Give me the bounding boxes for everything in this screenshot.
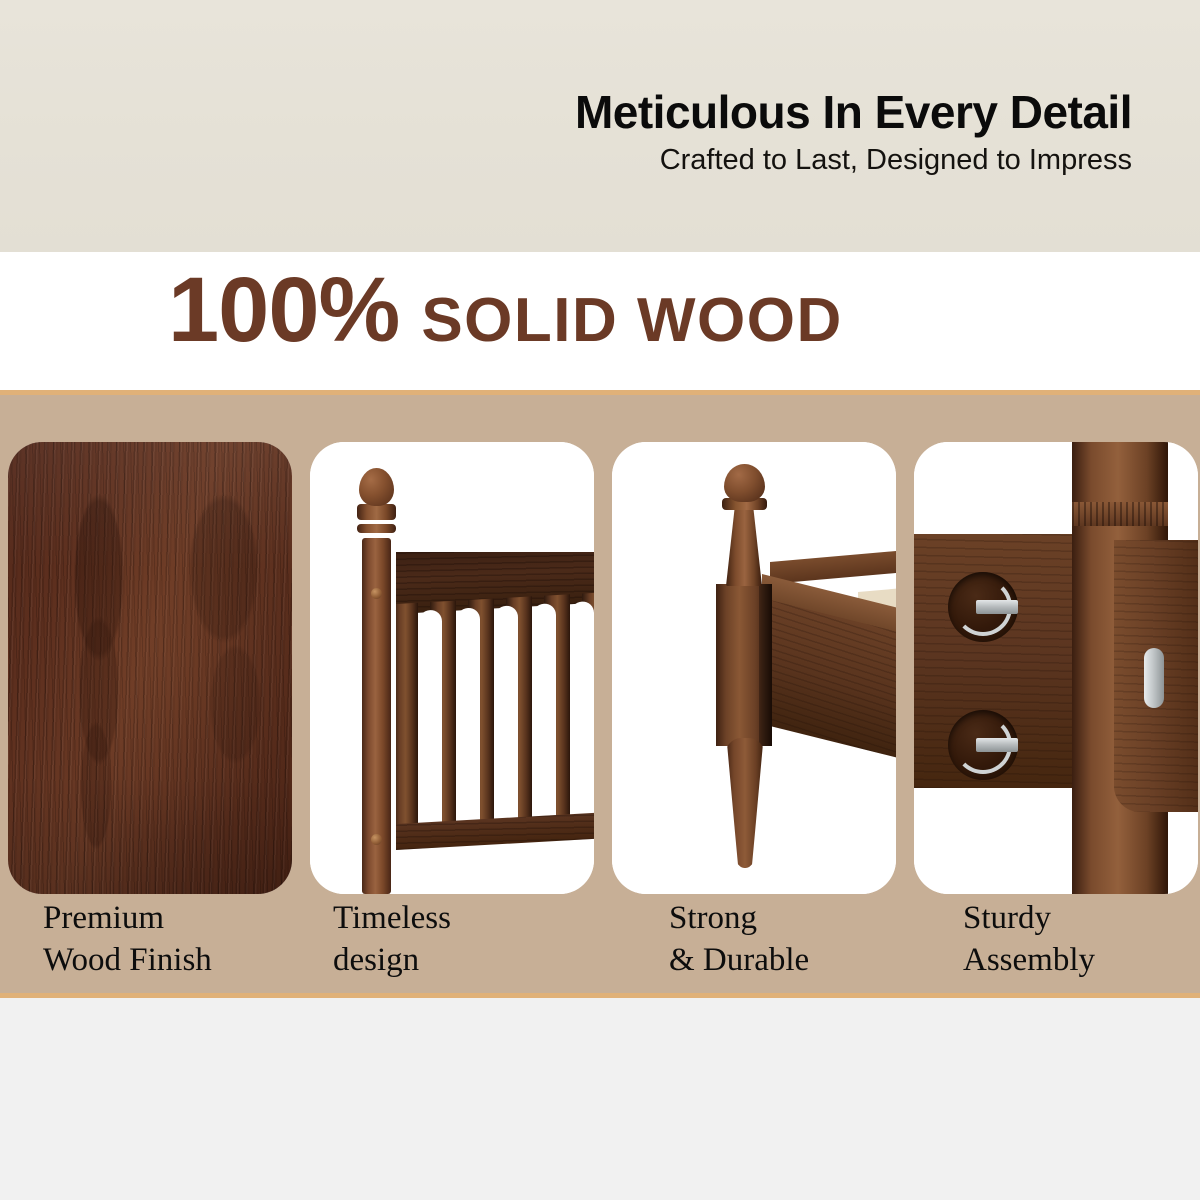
spindle-gap <box>532 603 556 830</box>
feature-image-wood-grain <box>8 442 292 894</box>
assembly-screw <box>1144 648 1164 708</box>
material-label: SOLID WOOD <box>421 290 842 352</box>
spindle-gap <box>570 601 594 828</box>
post-finial <box>359 468 394 506</box>
feature-image-row <box>0 442 1200 894</box>
spindle-group <box>396 592 594 836</box>
product-infographic: Meticulous In Every Detail Crafted to La… <box>0 0 1200 1200</box>
header-band: Meticulous In Every Detail Crafted to La… <box>0 0 1200 252</box>
spindle-gap <box>418 609 442 836</box>
feature-caption-timeless-design: Timeless design <box>333 898 451 981</box>
wood-peg <box>371 834 382 845</box>
corner-post-body <box>716 584 772 746</box>
feature-caption-strong-durable: Strong & Durable <box>669 898 809 981</box>
header-text-group: Meticulous In Every Detail Crafted to La… <box>575 88 1132 179</box>
footer-blank-area <box>0 998 1200 1200</box>
spindle-gap <box>494 605 518 832</box>
percent-value: 100% <box>168 264 399 356</box>
wood-grain-texture <box>8 442 292 894</box>
feature-caption-wood-finish: Premium Wood Finish <box>43 898 212 981</box>
post-collar <box>357 504 396 520</box>
page-subtitle: Crafted to Last, Designed to Impress <box>575 142 1132 178</box>
banner-text-group: 100% SOLID WOOD <box>168 264 843 356</box>
feature-image-assembly-hardware <box>914 442 1198 894</box>
headboard-panel <box>396 552 594 894</box>
cam-bolt <box>976 600 1018 614</box>
feature-caption-sturdy-assembly: Sturdy Assembly <box>963 898 1095 981</box>
feature-image-headboard <box>310 442 594 894</box>
feature-caption-row: Premium Wood Finish Timeless design Stro… <box>0 898 1200 994</box>
cam-bolt <box>976 738 1018 752</box>
feature-image-corner-post <box>612 442 896 894</box>
page-title: Meticulous In Every Detail <box>575 88 1132 136</box>
rail-end-board <box>914 534 1080 788</box>
post-collar <box>357 524 396 533</box>
spindle-gap <box>456 607 480 834</box>
post-turning-band <box>1072 502 1168 526</box>
spindle <box>396 603 418 836</box>
wood-peg <box>371 588 382 599</box>
post-finial <box>724 464 765 502</box>
